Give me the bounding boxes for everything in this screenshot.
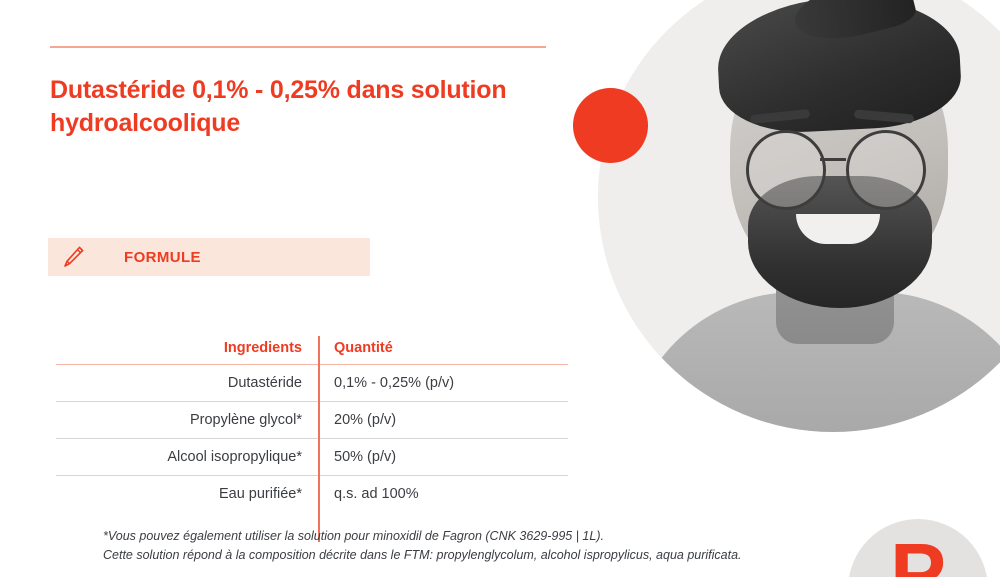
table-row: Alcool isopropylique* 50% (p/v) bbox=[56, 439, 568, 475]
footnote: *Vous pouvez également utiliser la solut… bbox=[103, 527, 863, 566]
table-header-quantity: Quantité bbox=[318, 340, 568, 356]
table-row: Propylène glycol* 20% (p/v) bbox=[56, 402, 568, 438]
table-row: Dutastéride 0,1% - 0,25% (p/v) bbox=[56, 365, 568, 401]
glasses-bridge bbox=[820, 158, 846, 161]
pen-icon bbox=[60, 244, 86, 270]
table-header-ingredients: Ingredients bbox=[56, 340, 318, 356]
footnote-line-2: Cette solution répond à la composition d… bbox=[103, 546, 863, 565]
red-circle-accent bbox=[573, 88, 648, 163]
formula-table: Ingredients Quantité Dutastéride 0,1% - … bbox=[56, 332, 568, 512]
brand-badge-letter: P bbox=[848, 531, 988, 577]
table-row: Eau purifiée* q.s. ad 100% bbox=[56, 476, 568, 512]
page-title: Dutastéride 0,1% - 0,25% dans solution h… bbox=[50, 74, 520, 140]
formule-banner: FORMULE bbox=[48, 238, 370, 276]
footnote-line-1: *Vous pouvez également utiliser la solut… bbox=[103, 527, 863, 546]
table-header-row: Ingredients Quantité bbox=[56, 332, 568, 364]
cell-quantity: 50% (p/v) bbox=[318, 449, 568, 465]
cell-quantity: 0,1% - 0,25% (p/v) bbox=[318, 375, 568, 391]
slide: P Dutastéride 0,1% - 0,25% dans solution… bbox=[0, 0, 1000, 577]
portrait-photo bbox=[598, 0, 1000, 432]
glasses-lens-right-icon bbox=[846, 130, 926, 210]
cell-quantity: q.s. ad 100% bbox=[318, 486, 568, 502]
cell-ingredient: Eau purifiée* bbox=[56, 486, 318, 502]
glasses-lens-left-icon bbox=[746, 130, 826, 210]
title-top-rule bbox=[50, 46, 546, 48]
cell-ingredient: Propylène glycol* bbox=[56, 412, 318, 428]
cell-ingredient: Dutastéride bbox=[56, 375, 318, 391]
table-column-divider bbox=[318, 336, 320, 542]
cell-quantity: 20% (p/v) bbox=[318, 412, 568, 428]
portrait-illustration bbox=[598, 0, 1000, 432]
cell-ingredient: Alcool isopropylique* bbox=[56, 449, 318, 465]
portrait-visual bbox=[580, 0, 1000, 577]
formule-label: FORMULE bbox=[124, 249, 201, 266]
